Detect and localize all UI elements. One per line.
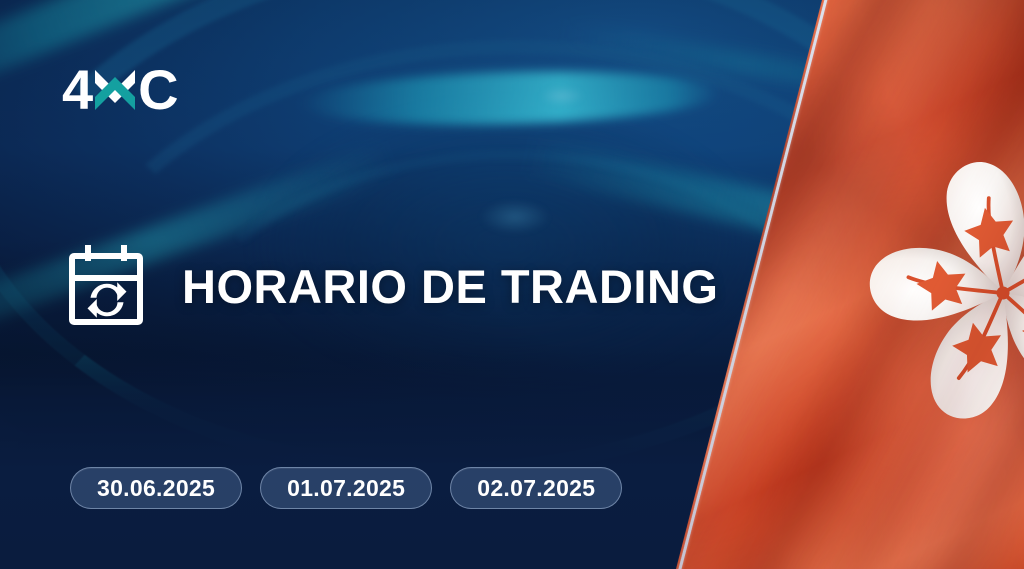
date-pill-group: 30.06.2025 01.07.2025 02.07.2025 bbox=[70, 467, 622, 509]
date-pill[interactable]: 01.07.2025 bbox=[260, 467, 432, 509]
date-pill[interactable]: 30.06.2025 bbox=[70, 467, 242, 509]
logo-letter-c: C bbox=[138, 62, 177, 118]
logo-digit-four: 4 bbox=[62, 62, 92, 118]
logo-x-chevron-icon bbox=[93, 64, 137, 116]
calendar-refresh-icon bbox=[64, 243, 150, 329]
date-pill[interactable]: 02.07.2025 bbox=[450, 467, 622, 509]
brand-logo[interactable]: 4 C bbox=[62, 60, 178, 118]
page-title: HORARIO DE TRADING bbox=[182, 259, 718, 314]
headline-row: HORARIO DE TRADING bbox=[64, 243, 718, 329]
trading-hours-banner: 4 C bbox=[0, 0, 1024, 569]
